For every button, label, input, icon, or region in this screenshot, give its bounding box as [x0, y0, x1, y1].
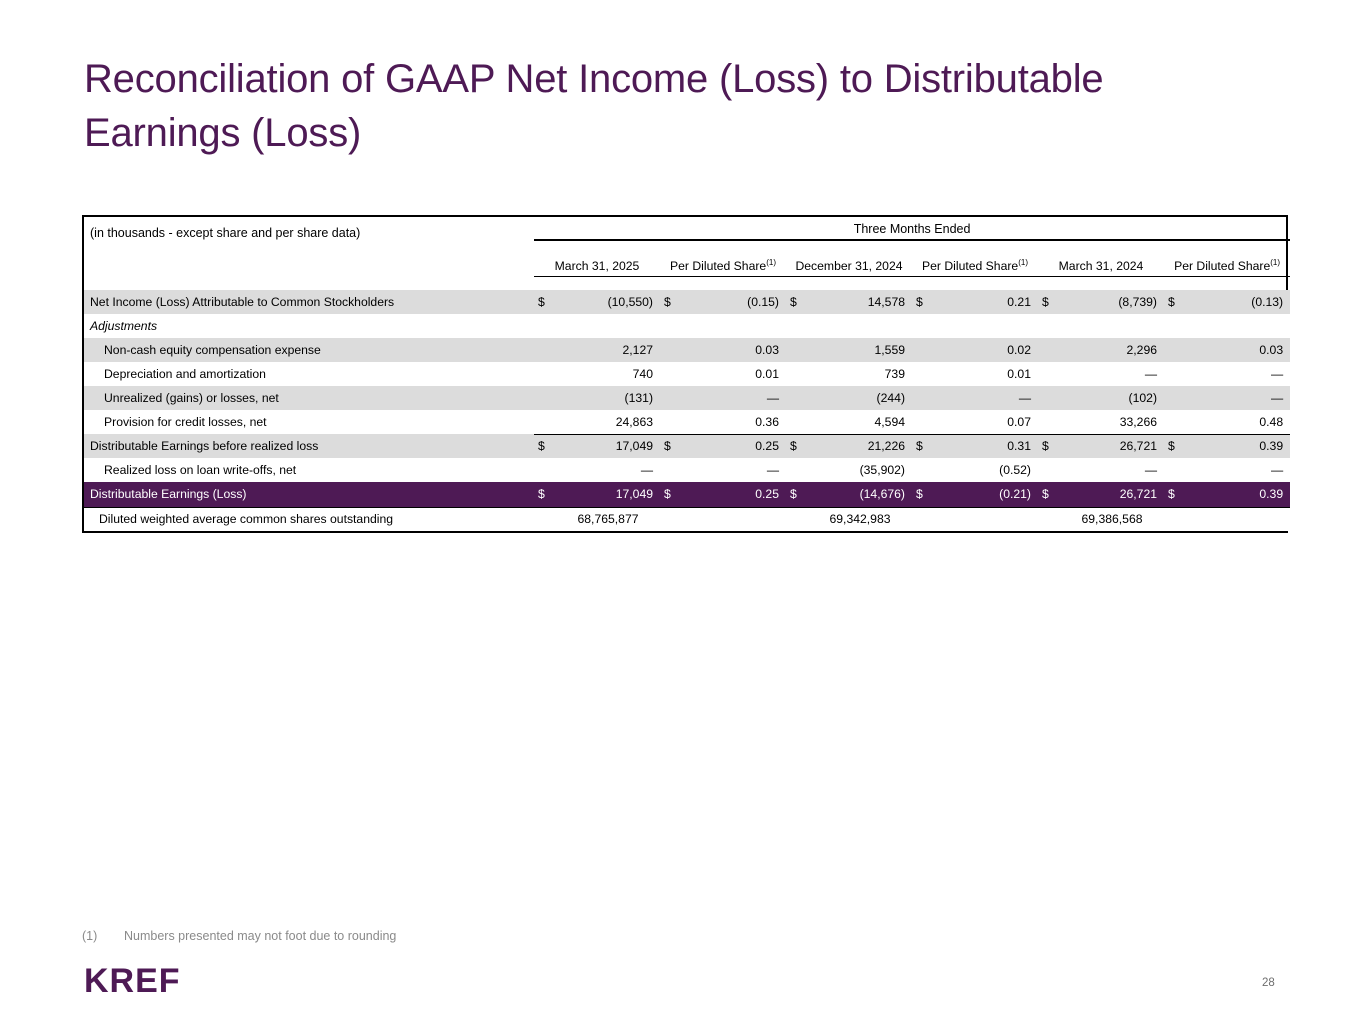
row-currency: [1164, 362, 1186, 386]
row-label: Realized loss on loan write-offs, net: [84, 458, 534, 482]
row-value: 2,127: [556, 338, 660, 362]
row-currency: [1038, 338, 1060, 362]
row-value: 68,765,877: [556, 507, 660, 531]
row-value: 69,386,568: [1060, 507, 1164, 531]
row-currency: [912, 458, 934, 482]
row-currency: [660, 507, 682, 531]
row-currency: [1164, 338, 1186, 362]
row-value: 1,559: [808, 338, 912, 362]
row-currency: [534, 338, 556, 362]
group-header-three-months-ended: Three Months Ended: [534, 217, 1290, 248]
row-currency: [1038, 458, 1060, 482]
row-currency: [534, 362, 556, 386]
row-currency: [1164, 507, 1186, 531]
row-currency: [786, 386, 808, 410]
row-value: 0.21: [934, 290, 1038, 314]
column-header-4: March 31, 2024: [1038, 248, 1164, 290]
row-currency: [786, 458, 808, 482]
row-value: [1060, 314, 1164, 338]
row-value: 0.31: [934, 434, 1038, 458]
row-currency: [786, 314, 808, 338]
row-currency: [1164, 314, 1186, 338]
row-value: 14,578: [808, 290, 912, 314]
row-currency: [912, 314, 934, 338]
row-value: 4,594: [808, 410, 912, 434]
row-currency: [1038, 362, 1060, 386]
header-spacer: [84, 248, 534, 290]
row-currency: $: [786, 482, 808, 507]
row-value: 0.03: [682, 338, 786, 362]
row-value: 0.02: [934, 338, 1038, 362]
row-value: 0.25: [682, 482, 786, 507]
row-value: (8,739): [1060, 290, 1164, 314]
row-value: (0.13): [1186, 290, 1290, 314]
table-row: Unrealized (gains) or losses, net (131) …: [84, 386, 1290, 410]
row-value: —: [1060, 362, 1164, 386]
row-value: (0.52): [934, 458, 1038, 482]
header-row-group: (in thousands - except share and per sha…: [84, 217, 1290, 248]
row-currency: $: [660, 482, 682, 507]
row-currency: [660, 458, 682, 482]
table-row: Non-cash equity compensation expense 2,1…: [84, 338, 1290, 362]
row-value: 21,226: [808, 434, 912, 458]
row-currency: [912, 410, 934, 434]
row-currency: $: [534, 482, 556, 507]
row-value: [934, 314, 1038, 338]
row-currency: $: [912, 290, 934, 314]
row-currency: $: [660, 434, 682, 458]
table-header: (in thousands - except share and per sha…: [84, 217, 1290, 290]
row-value: 0.48: [1186, 410, 1290, 434]
row-label: Distributable Earnings (Loss): [84, 482, 534, 507]
row-label: Adjustments: [84, 314, 534, 338]
row-currency: [1164, 410, 1186, 434]
row-currency: [1164, 386, 1186, 410]
row-currency: [786, 507, 808, 531]
row-currency: [660, 410, 682, 434]
row-value: —: [1186, 386, 1290, 410]
row-value: —: [682, 386, 786, 410]
row-currency: $: [660, 290, 682, 314]
table-row: Realized loss on loan write-offs, net — …: [84, 458, 1290, 482]
row-currency: [660, 362, 682, 386]
row-value: —: [1186, 458, 1290, 482]
page-number: 28: [1262, 977, 1275, 989]
row-label: Provision for credit losses, net: [84, 410, 534, 434]
row-currency: $: [912, 434, 934, 458]
row-currency: [660, 386, 682, 410]
page-title: Reconciliation of GAAP Net Income (Loss)…: [84, 52, 1144, 160]
row-value: —: [556, 458, 660, 482]
column-header-3: Per Diluted Share(1): [912, 248, 1038, 290]
row-label: Diluted weighted average common shares o…: [84, 507, 534, 531]
header-row-columns: March 31, 2025 Per Diluted Share(1) Dece…: [84, 248, 1290, 290]
row-currency: $: [786, 290, 808, 314]
row-currency: [1038, 314, 1060, 338]
row-currency: [1038, 410, 1060, 434]
row-value: 0.39: [1186, 482, 1290, 507]
row-value: (0.21): [934, 482, 1038, 507]
row-currency: [534, 410, 556, 434]
kref-logo: KREF: [84, 962, 181, 1001]
row-currency: [660, 314, 682, 338]
row-currency: [786, 338, 808, 362]
row-value: 740: [556, 362, 660, 386]
row-currency: [1038, 507, 1060, 531]
table-row: Net Income (Loss) Attributable to Common…: [84, 290, 1290, 314]
row-value: 24,863: [556, 410, 660, 434]
row-value: —: [1060, 458, 1164, 482]
row-value: [556, 314, 660, 338]
row-value: [1186, 314, 1290, 338]
footnote-text: Numbers presented may not foot due to ro…: [124, 929, 396, 943]
table-row: Adjustments: [84, 314, 1290, 338]
row-value: [1186, 507, 1290, 531]
row-currency: $: [1164, 482, 1186, 507]
row-value: 0.03: [1186, 338, 1290, 362]
column-header-5: Per Diluted Share(1): [1164, 248, 1290, 290]
column-header-0: March 31, 2025: [534, 248, 660, 290]
row-value: (35,902): [808, 458, 912, 482]
row-value: (244): [808, 386, 912, 410]
row-currency: $: [1038, 290, 1060, 314]
row-currency: $: [1038, 482, 1060, 507]
row-currency: [786, 410, 808, 434]
reconciliation-table: (in thousands - except share and per sha…: [84, 217, 1290, 531]
reconciliation-table-container: (in thousands - except share and per sha…: [82, 215, 1288, 533]
row-value: 26,721: [1060, 482, 1164, 507]
row-value: (102): [1060, 386, 1164, 410]
row-currency: $: [534, 290, 556, 314]
row-value: —: [934, 386, 1038, 410]
row-value: (131): [556, 386, 660, 410]
row-currency: [912, 386, 934, 410]
row-value: (14,676): [808, 482, 912, 507]
row-currency: [534, 314, 556, 338]
row-label: Unrealized (gains) or losses, net: [84, 386, 534, 410]
footnote-marker: (1): [82, 929, 124, 943]
row-currency: $: [1164, 290, 1186, 314]
row-value: 0.36: [682, 410, 786, 434]
row-value: 2,296: [1060, 338, 1164, 362]
row-currency: [534, 507, 556, 531]
row-currency: [912, 362, 934, 386]
row-currency: $: [912, 482, 934, 507]
row-value: (0.15): [682, 290, 786, 314]
row-value: —: [682, 458, 786, 482]
row-value: [934, 507, 1038, 531]
footnote: (1)Numbers presented may not foot due to…: [82, 929, 396, 943]
row-label: Non-cash equity compensation expense: [84, 338, 534, 362]
table-row: Provision for credit losses, net 24,863 …: [84, 410, 1290, 434]
table-row: Depreciation and amortization 740 0.01 7…: [84, 362, 1290, 386]
row-value: —: [1186, 362, 1290, 386]
row-currency: [912, 507, 934, 531]
row-currency: [1164, 458, 1186, 482]
row-value: 0.01: [682, 362, 786, 386]
row-value: 26,721: [1060, 434, 1164, 458]
table-row-highlighted: Distributable Earnings (Loss) $ 17,049 $…: [84, 482, 1290, 507]
row-value: 0.07: [934, 410, 1038, 434]
row-value: 17,049: [556, 482, 660, 507]
row-currency: [786, 362, 808, 386]
table-body: Net Income (Loss) Attributable to Common…: [84, 290, 1290, 531]
row-currency: [1038, 386, 1060, 410]
row-value: [808, 314, 912, 338]
row-label: Distributable Earnings before realized l…: [84, 434, 534, 458]
column-header-2: December 31, 2024: [786, 248, 912, 290]
row-currency: [534, 386, 556, 410]
row-value: 0.25: [682, 434, 786, 458]
row-label: Depreciation and amortization: [84, 362, 534, 386]
row-value: (10,550): [556, 290, 660, 314]
row-value: 739: [808, 362, 912, 386]
row-value: 33,266: [1060, 410, 1164, 434]
row-currency: $: [534, 434, 556, 458]
row-value: 69,342,983: [808, 507, 912, 531]
table-row: Distributable Earnings before realized l…: [84, 434, 1290, 458]
row-value: [682, 314, 786, 338]
row-value: [682, 507, 786, 531]
column-header-1: Per Diluted Share(1): [660, 248, 786, 290]
units-caption: (in thousands - except share and per sha…: [84, 217, 534, 248]
row-label: Net Income (Loss) Attributable to Common…: [84, 290, 534, 314]
row-currency: [660, 338, 682, 362]
row-currency: [534, 458, 556, 482]
row-currency: $: [1164, 434, 1186, 458]
row-currency: $: [786, 434, 808, 458]
row-value: 0.39: [1186, 434, 1290, 458]
row-currency: [912, 338, 934, 362]
row-value: 0.01: [934, 362, 1038, 386]
row-currency: $: [1038, 434, 1060, 458]
row-value: 17,049: [556, 434, 660, 458]
table-row: Diluted weighted average common shares o…: [84, 507, 1290, 531]
